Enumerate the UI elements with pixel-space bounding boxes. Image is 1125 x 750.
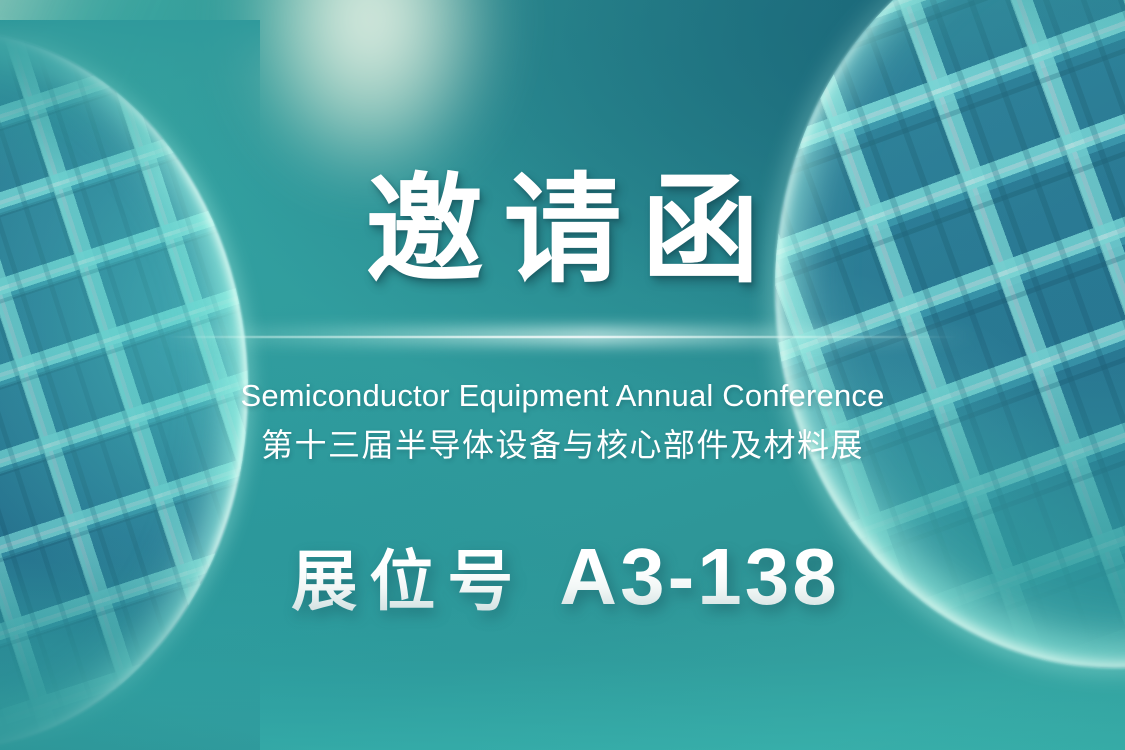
booth-number-value: A3-138 [559,531,839,623]
booth-label: 展位号 [285,528,525,624]
banner-content: 邀请函 Semiconductor Equipment Annual Confe… [0,0,1125,750]
glow-divider-line [168,336,958,338]
invitation-banner: 邀请函 Semiconductor Equipment Annual Confe… [0,0,1125,750]
headline-invitation: 邀请函 [345,172,779,290]
subtitle-english: Semiconductor Equipment Annual Conferenc… [240,378,884,414]
booth-number-block: 展位号 A3-138 [285,528,839,624]
glow-divider [168,334,958,340]
subtitle-chinese: 第十三届半导体设备与核心部件及材料展 [261,420,864,466]
